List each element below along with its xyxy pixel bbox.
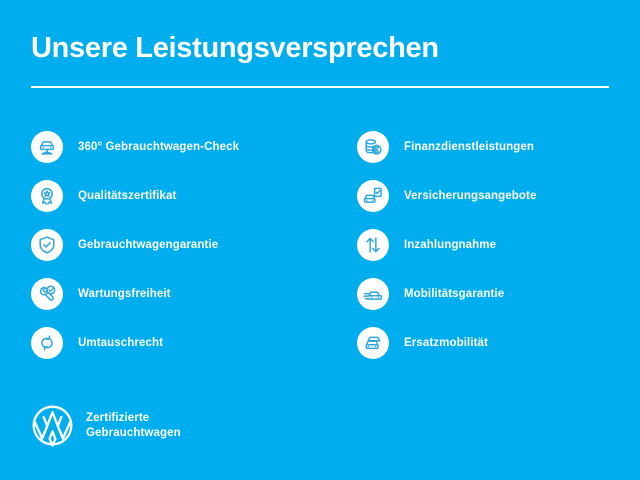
car-motion-icon bbox=[357, 278, 389, 310]
benefit-item-finanzdienstleistungen: Finanzdienstleistungen bbox=[357, 122, 637, 171]
benefit-label: Ersatzmobilität bbox=[404, 337, 488, 349]
benefit-label: Gebrauchtwagengarantie bbox=[78, 239, 218, 251]
benefits-right-column: Finanzdienstleistungen Versicherungsange… bbox=[357, 122, 637, 367]
benefit-label: Qualitätszertifikat bbox=[78, 190, 176, 202]
volkswagen-logo bbox=[31, 404, 74, 447]
benefit-label: Wartungsfreiheit bbox=[78, 288, 171, 300]
benefit-item-mobilitaetsgarantie: Mobilitätsgarantie bbox=[357, 269, 637, 318]
benefit-label: Finanzdienstleistungen bbox=[404, 141, 534, 153]
coins-euro-icon bbox=[357, 131, 389, 163]
title-divider bbox=[31, 86, 609, 88]
footer-text-line2: Gebrauchtwagen bbox=[86, 426, 181, 441]
leistungsversprechen-poster: Unsere Leistungsversprechen bbox=[0, 0, 640, 480]
benefit-item-wartungsfreiheit: Wartungsfreiheit bbox=[31, 269, 331, 318]
shield-check-icon bbox=[31, 229, 63, 261]
benefit-item-qualitaetszertifikat: Qualitätszertifikat bbox=[31, 171, 331, 220]
benefit-label: Versicherungsangebote bbox=[404, 190, 536, 202]
up-down-arrows-icon bbox=[357, 229, 389, 261]
benefit-item-umtauschrecht: Umtauschrecht bbox=[31, 318, 331, 367]
exchange-arrows-icon bbox=[31, 327, 63, 359]
page-title: Unsere Leistungsversprechen bbox=[31, 31, 439, 65]
benefit-label: Mobilitätsgarantie bbox=[404, 288, 504, 300]
benefit-item-versicherungsangebote: Versicherungsangebote bbox=[357, 171, 637, 220]
benefit-item-gebrauchtwagengarantie: Gebrauchtwagengarantie bbox=[31, 220, 331, 269]
car-on-lift-icon bbox=[31, 131, 63, 163]
benefit-label: Inzahlungnahme bbox=[404, 239, 496, 251]
footer-text: Zertifizierte Gebrauchtwagen bbox=[86, 411, 181, 441]
benefit-item-ersatzmobilitaet: Ersatzmobilität bbox=[357, 318, 637, 367]
footer-text-line1: Zertifizierte bbox=[86, 411, 181, 426]
benefit-label: 360° Gebrauchtwagen-Check bbox=[78, 141, 239, 153]
benefit-item-inzahlungnahme: Inzahlungnahme bbox=[357, 220, 637, 269]
wrench-check-icon bbox=[31, 278, 63, 310]
benefits-left-column: 360° Gebrauchtwagen-Check Qualitätszerti… bbox=[31, 122, 331, 367]
benefit-label: Umtauschrecht bbox=[78, 337, 163, 349]
benefit-item-gebrauchtwagen-check: 360° Gebrauchtwagen-Check bbox=[31, 122, 331, 171]
car-document-check-icon bbox=[357, 180, 389, 212]
two-cars-icon bbox=[357, 327, 389, 359]
award-rosette-icon bbox=[31, 180, 63, 212]
footer-lockup: Zertifizierte Gebrauchtwagen bbox=[31, 404, 181, 447]
